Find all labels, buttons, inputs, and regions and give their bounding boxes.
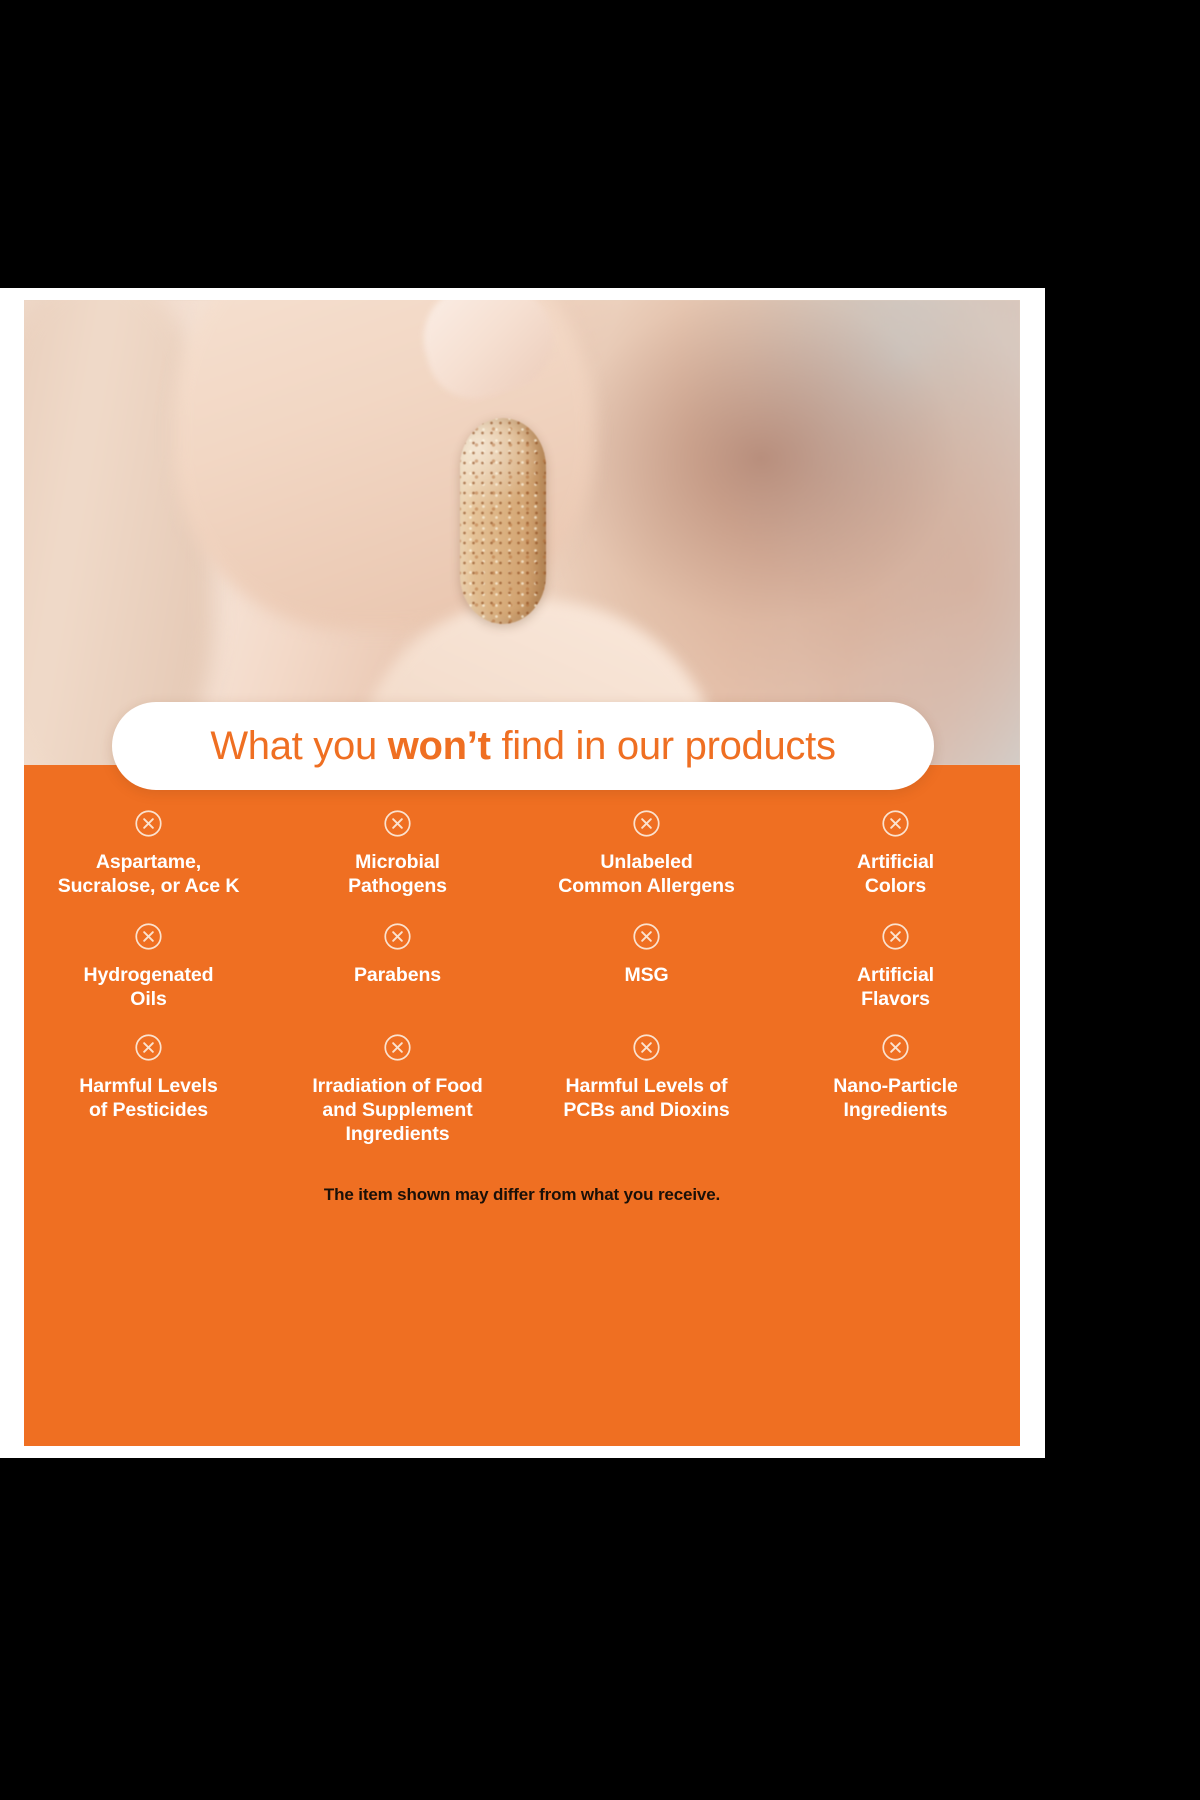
list-item-label: Nano-Particle Ingredients: [833, 1075, 957, 1123]
circle-x-icon: [383, 1033, 412, 1062]
circle-x-icon: [632, 922, 661, 951]
tablet-icon: [460, 418, 546, 624]
circle-x-icon: [134, 809, 163, 838]
disclaimer-text: The item shown may differ from what you …: [24, 1185, 1020, 1205]
circle-x-icon: [881, 1033, 910, 1062]
list-item: Harmful Levels of Pesticides: [24, 1033, 273, 1153]
list-item: Artificial Colors: [771, 809, 1020, 922]
list-item: Parabens: [273, 922, 522, 1033]
circle-x-icon: [134, 922, 163, 951]
list-item-label: MSG: [624, 964, 668, 988]
headline-banner: What you won’t find in our products: [112, 702, 934, 790]
product-info-card: What you won’t find in our products Aspa…: [24, 300, 1020, 1446]
list-item-label: Artificial Flavors: [857, 964, 934, 1012]
list-item-label: Hydrogenated Oils: [84, 964, 214, 1012]
list-item: Nano-Particle Ingredients: [771, 1033, 1020, 1153]
list-item-label: Parabens: [354, 964, 441, 988]
list-item: Irradiation of Food and Supplement Ingre…: [273, 1033, 522, 1153]
list-item: Microbial Pathogens: [273, 809, 522, 922]
claims-panel: What you won’t find in our products Aspa…: [24, 765, 1020, 1446]
list-item: Unlabeled Common Allergens: [522, 809, 771, 922]
list-item-label: Unlabeled Common Allergens: [558, 851, 734, 899]
circle-x-icon: [383, 922, 412, 951]
list-item: MSG: [522, 922, 771, 1033]
list-item-label: Harmful Levels of PCBs and Dioxins: [563, 1075, 729, 1123]
tablet-speckle-texture: [460, 418, 546, 624]
circle-x-icon: [383, 809, 412, 838]
circle-x-icon: [632, 1033, 661, 1062]
list-item-label: Microbial Pathogens: [348, 851, 447, 899]
circle-x-icon: [881, 809, 910, 838]
circle-x-icon: [881, 922, 910, 951]
list-item: Hydrogenated Oils: [24, 922, 273, 1033]
page-title: What you won’t find in our products: [210, 724, 835, 769]
list-item-label: Artificial Colors: [857, 851, 934, 899]
circle-x-icon: [632, 809, 661, 838]
list-item-label: Irradiation of Food and Supplement Ingre…: [312, 1075, 482, 1146]
headline-emphasis: won’t: [388, 724, 491, 768]
list-item: Aspartame, Sucralose, or Ace K: [24, 809, 273, 922]
product-photo: [24, 300, 1020, 765]
list-item: Harmful Levels of PCBs and Dioxins: [522, 1033, 771, 1153]
circle-x-icon: [134, 1033, 163, 1062]
image-canvas: What you won’t find in our products Aspa…: [0, 288, 1045, 1458]
headline-prefix: What you: [210, 724, 387, 768]
list-item-label: Aspartame, Sucralose, or Ace K: [58, 851, 240, 899]
list-item: Artificial Flavors: [771, 922, 1020, 1033]
list-item-label: Harmful Levels of Pesticides: [79, 1075, 217, 1123]
headline-suffix: find in our products: [491, 724, 836, 768]
excluded-ingredients-grid: Aspartame, Sucralose, or Ace K Microbial…: [24, 809, 1020, 1153]
screenshot-stage: What you won’t find in our products Aspa…: [0, 0, 1200, 1800]
